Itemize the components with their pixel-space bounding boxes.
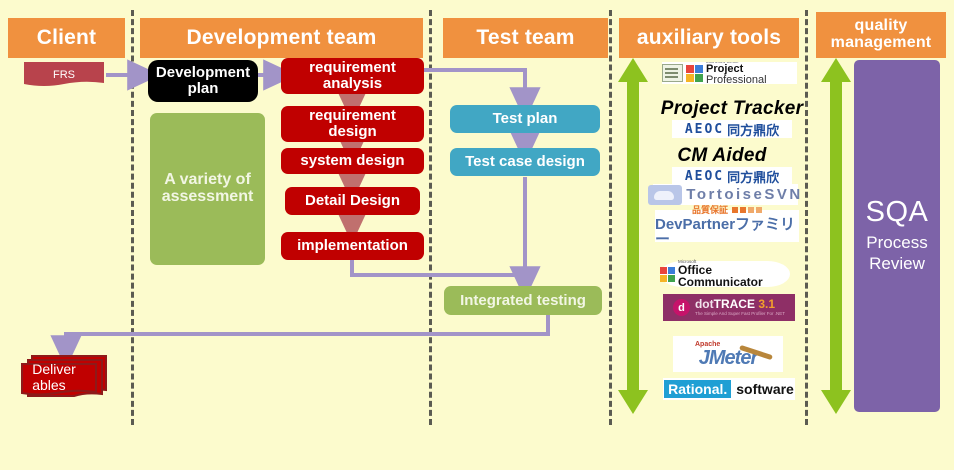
sqa-box[interactable]: SQA Process Review <box>854 60 940 412</box>
assessment-box[interactable]: A variety of assessment <box>150 113 265 265</box>
ms-project-document-icon <box>662 64 683 82</box>
dottrace-version: 3.1 <box>758 297 775 311</box>
jmeter-plate: Apache JMeter <box>673 336 783 372</box>
lane-divider-client-development <box>131 10 134 425</box>
tool-office-communicator[interactable]: Microsoft Office Communicator <box>660 261 790 287</box>
step-detail-design[interactable]: Detail Design <box>285 187 420 215</box>
lane-header-test-team[interactable]: Test team <box>443 18 608 58</box>
tool-aerosoft-logo-2[interactable]: AEOC 同方鼎欣 <box>672 167 792 185</box>
deliverables-line1: Deliver <box>32 361 76 377</box>
dottrace-text-bold: TRACE <box>714 297 755 311</box>
lane-header-auxiliary-tools[interactable]: auxiliary tools <box>619 18 799 58</box>
tortoise-icon <box>648 185 682 205</box>
aerosoft-cjk-2: 同方鼎欣 <box>727 167 779 185</box>
sqa-sub-line2: Review <box>869 253 925 274</box>
development-plan-box[interactable]: Development plan <box>148 60 258 102</box>
step-test-case-design[interactable]: Test case design <box>450 148 600 176</box>
step-integrated-testing[interactable]: Integrated testing <box>444 286 602 315</box>
devpartner-jp-tag: 品質保証 <box>692 206 728 215</box>
development-plan-line2: plan <box>188 81 219 97</box>
tool-project-tracker[interactable]: Project Tracker <box>662 97 802 121</box>
step-implementation[interactable]: implementation <box>281 232 424 260</box>
devpartner-dots-icon <box>732 207 762 213</box>
requirement-design-line2: design <box>328 124 376 140</box>
aerosoft-plate-1: AEOC 同方鼎欣 <box>672 120 792 138</box>
lane-divider-development-test <box>429 10 432 425</box>
diagram-background <box>0 0 954 470</box>
rational-brand: Rational. <box>664 380 731 398</box>
dottrace-plate: d dotTRACE 3.1 The Simple And Super Fast… <box>663 294 795 321</box>
requirement-design-line1: requirement <box>309 108 396 124</box>
lane-header-development-team[interactable]: Development team <box>140 18 423 58</box>
ms-office-squares-icon <box>686 65 703 82</box>
step-test-plan[interactable]: Test plan <box>450 105 600 133</box>
requirement-analysis-line2: analysis <box>323 76 382 92</box>
lane-header-client[interactable]: Client <box>8 18 125 58</box>
lane-divider-tools-quality <box>805 10 808 425</box>
development-plan-line1: Development <box>156 65 250 81</box>
step-requirement-design[interactable]: requirement design <box>281 106 424 142</box>
deliverables-label: Deliver ables <box>32 361 76 393</box>
office-communicator-label: Office Communicator <box>678 264 790 288</box>
tool-devpartner[interactable]: 品質保証 DevPartnerファミリー <box>655 210 799 242</box>
tool-cm-aided[interactable]: CM Aided <box>662 144 782 168</box>
office-communicator-squares-icon <box>660 267 675 282</box>
devpartner-plate: 品質保証 DevPartnerファミリー <box>655 210 799 242</box>
lane-header-quality-management[interactable]: quality management <box>816 12 946 58</box>
dottrace-text-main: dot <box>695 297 714 311</box>
rational-plate: Rational. software <box>663 378 795 400</box>
ms-project-product-rest: Professional <box>706 74 767 84</box>
quality-header-line2: management <box>831 35 932 52</box>
tool-aerosoft-logo-1[interactable]: AEOC 同方鼎欣 <box>672 120 792 138</box>
tortoisesvn-plate: TortoiseSVN <box>653 184 798 205</box>
dottrace-tagline: The Simple And Super Fast Profiler For .… <box>695 312 785 317</box>
deliverables-line2: ables <box>32 377 65 393</box>
ms-project-plate: Microsoft Office Project Professional <box>662 62 797 84</box>
tortoisesvn-label: TortoiseSVN <box>686 186 802 203</box>
tool-rational[interactable]: Rational. software <box>663 378 795 400</box>
office-communicator-plate: Microsoft Office Communicator <box>660 261 790 287</box>
deliverables-document[interactable]: Deliver ables <box>16 352 112 400</box>
quality-header-line1: quality <box>855 18 908 35</box>
rational-label: software <box>731 381 794 397</box>
aerosoft-mark-2: AEOC <box>685 169 724 184</box>
sqa-sub-line1: Process <box>866 232 927 253</box>
lane-divider-test-tools <box>609 10 612 425</box>
dottrace-circle-icon: d <box>673 299 690 316</box>
diagram-canvas: Client Development team Test team auxili… <box>0 0 954 476</box>
aerosoft-mark-1: AEOC <box>685 122 724 137</box>
cm-aided-label: CM Aided <box>677 145 766 167</box>
aerosoft-plate-2: AEOC 同方鼎欣 <box>672 167 792 185</box>
sqa-title: SQA <box>866 197 929 228</box>
devpartner-label: DevPartnerファミリー <box>655 217 799 247</box>
assessment-line1: A variety of <box>164 172 251 189</box>
tool-ms-project[interactable]: Microsoft Office Project Professional <box>662 62 797 84</box>
frs-label: FRS <box>53 69 75 81</box>
project-tracker-label: Project Tracker <box>661 98 804 120</box>
tool-dottrace[interactable]: d dotTRACE 3.1 The Simple And Super Fast… <box>663 294 795 321</box>
frs-document[interactable]: FRS <box>22 60 106 90</box>
tool-tortoisesvn[interactable]: TortoiseSVN <box>653 184 798 205</box>
step-requirement-analysis[interactable]: requirement analysis <box>281 58 424 94</box>
tool-jmeter[interactable]: Apache JMeter <box>673 336 783 372</box>
step-system-design[interactable]: system design <box>281 148 424 174</box>
requirement-analysis-line1: requirement <box>309 60 396 76</box>
aerosoft-cjk-1: 同方鼎欣 <box>727 120 779 138</box>
assessment-line2: assessment <box>162 189 254 206</box>
sqa-subtitle: Process Review <box>866 232 927 275</box>
